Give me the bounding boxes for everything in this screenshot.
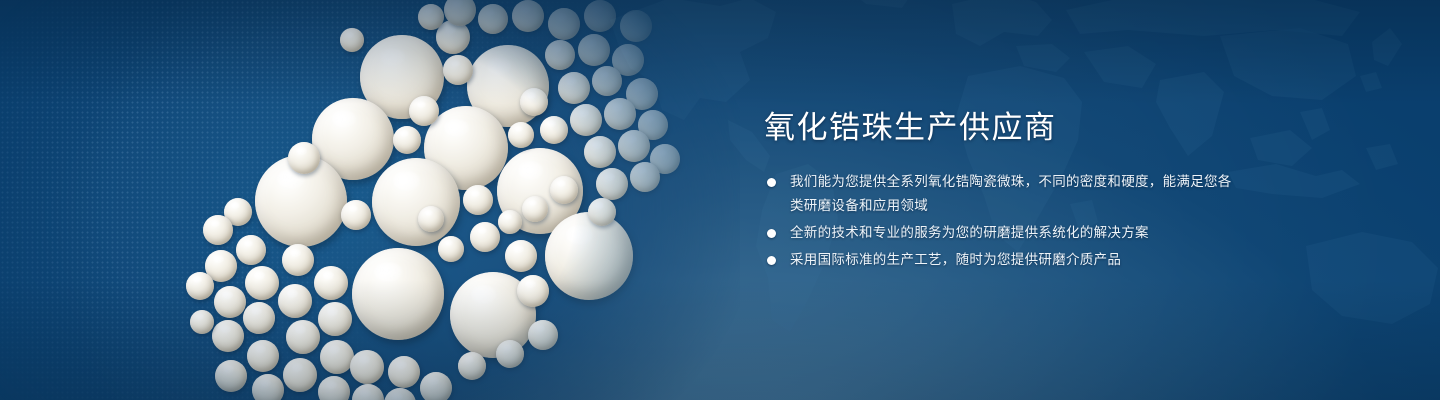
list-item: 采用国际标准的生产工艺，随时为您提供研磨介质产品 <box>764 248 1234 272</box>
list-item-label: 我们能为您提供全系列氧化锆陶瓷微珠，不同的密度和硬度，能满足您各类研磨设备和应用… <box>790 174 1232 213</box>
hero-banner: 氧化锆珠生产供应商 我们能为您提供全系列氧化锆陶瓷微珠，不同的密度和硬度，能满足… <box>0 0 1440 400</box>
feature-list: 我们能为您提供全系列氧化锆陶瓷微珠，不同的密度和硬度，能满足您各类研磨设备和应用… <box>764 170 1234 272</box>
bullet-dot-icon <box>767 229 776 238</box>
list-item-label: 全新的技术和专业的服务为您的研磨提供系统化的解决方案 <box>790 225 1149 240</box>
banner-content: 氧化锆珠生产供应商 我们能为您提供全系列氧化锆陶瓷微珠，不同的密度和硬度，能满足… <box>764 108 1234 275</box>
list-item: 全新的技术和专业的服务为您的研磨提供系统化的解决方案 <box>764 221 1234 245</box>
list-item-label: 采用国际标准的生产工艺，随时为您提供研磨介质产品 <box>790 252 1121 267</box>
bullet-dot-icon <box>767 256 776 265</box>
bullet-dot-icon <box>767 178 776 187</box>
list-item: 我们能为您提供全系列氧化锆陶瓷微珠，不同的密度和硬度，能满足您各类研磨设备和应用… <box>764 170 1234 218</box>
page-title: 氧化锆珠生产供应商 <box>764 108 1234 148</box>
